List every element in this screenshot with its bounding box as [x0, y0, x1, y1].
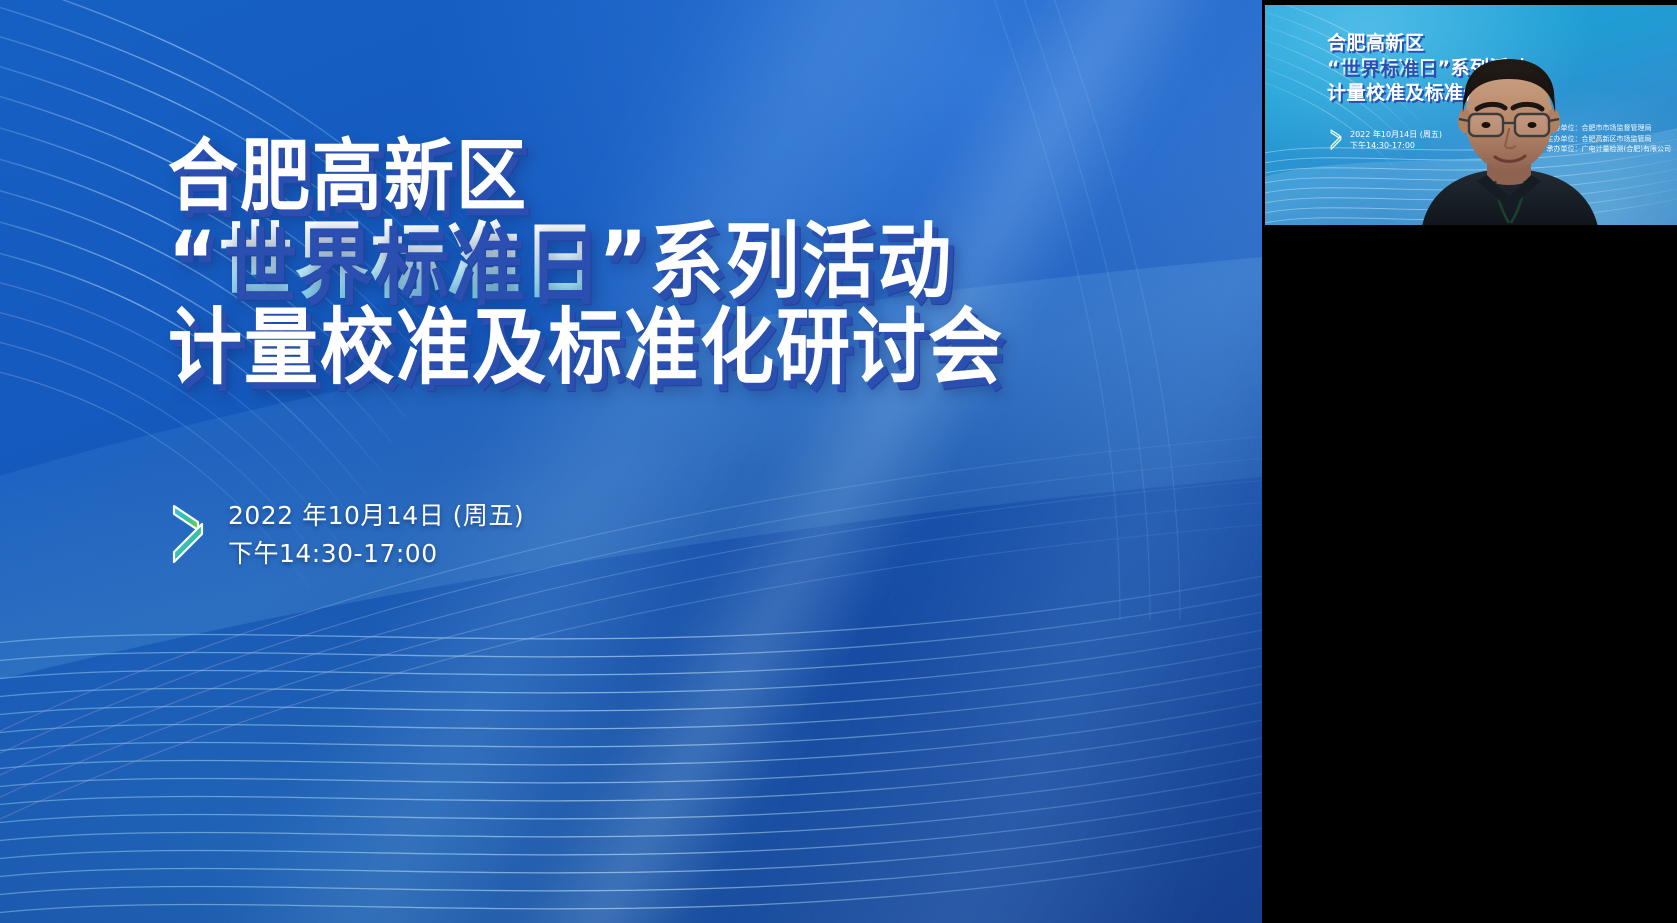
slide-date-block: 2022 年10月14日 (周五) 下午14:30-17:00 [168, 500, 524, 570]
slide-title-highlight: 世界标准日 [219, 214, 599, 310]
meeting-stage: 合肥高新区 “世界标准日”系列活动 计量校准及标准化研讨会 2022 年10月1… [0, 0, 1677, 923]
slide-title-block: 合肥高新区 “世界标准日”系列活动 计量校准及标准化研讨会 [168, 128, 1178, 386]
slide-title-line-1: 合肥高新区 [168, 128, 1178, 224]
webcam-video-tile[interactable]: 合肥高新区 “世界标准日”系列活动 计量校准及标准化研讨会 2022 年10月1… [1265, 5, 1677, 225]
slide-title-line-2: “世界标准日”系列活动 [168, 214, 1178, 310]
presenter-avatar [1417, 57, 1602, 225]
shared-screen-slide: 合肥高新区 “世界标准日”系列活动 计量校准及标准化研讨会 2022 年10月1… [0, 0, 1262, 923]
slide-time: 下午14:30-17:00 [228, 538, 524, 570]
slide-title-line-2-tail: 系列活动 [649, 214, 953, 310]
empty-black-area [1262, 225, 1677, 923]
chevron-right-icon [168, 504, 214, 566]
webcam-quote-open: “ [1327, 57, 1340, 79]
slide-date: 2022 年10月14日 (周五) [228, 500, 524, 532]
webcam-title-line-1: 合肥高新区 [1327, 31, 1677, 56]
slide-date-lines: 2022 年10月14日 (周五) 下午14:30-17:00 [228, 500, 524, 570]
quote-close: ” [599, 214, 650, 310]
slide-title-line-3: 计量校准及标准化研讨会 [168, 300, 1178, 396]
participant-panel: 合肥高新区 “世界标准日”系列活动 计量校准及标准化研讨会 2022 年10月1… [1262, 0, 1677, 923]
quote-open: “ [168, 214, 219, 310]
chevron-right-icon [1329, 129, 1345, 151]
